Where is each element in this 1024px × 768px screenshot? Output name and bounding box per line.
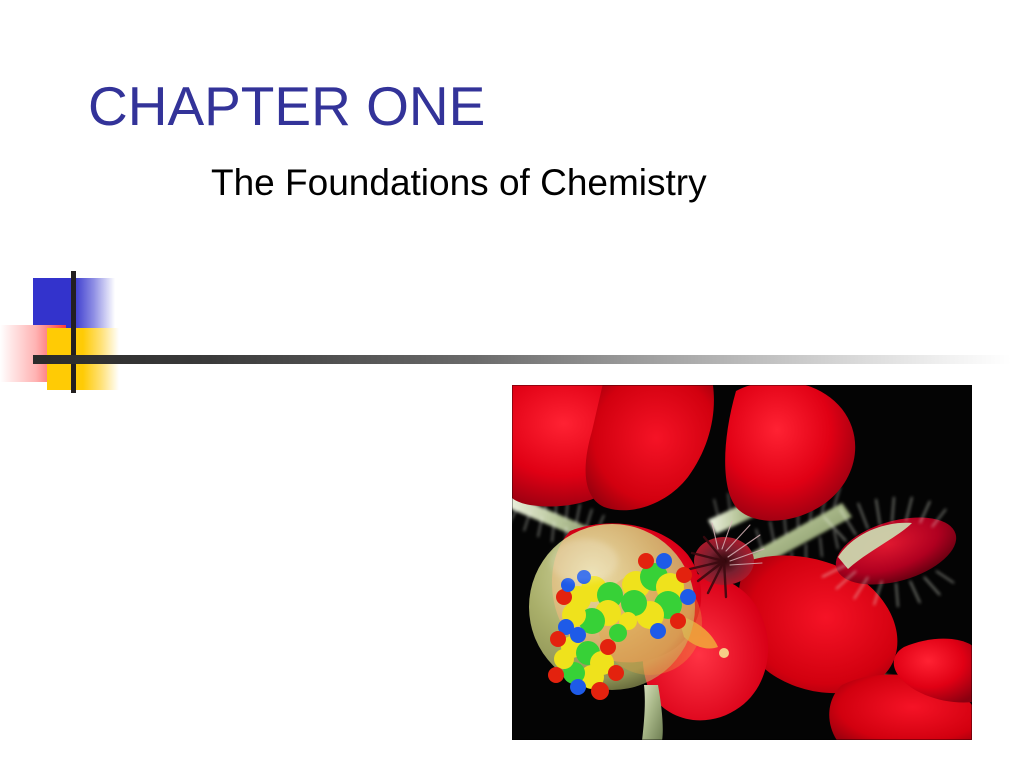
page-title: CHAPTER ONE — [88, 74, 485, 138]
decor-horizontal-rule — [33, 355, 1011, 364]
decor-vertical-bar — [71, 271, 76, 393]
slide-subtitle: The Foundations of Chemistry — [211, 160, 707, 206]
presentation-slide: CHAPTER ONE The Foundations of Chemistry — [0, 0, 1024, 768]
flower-photo-illustration — [512, 385, 972, 740]
flower-photo — [512, 385, 972, 740]
